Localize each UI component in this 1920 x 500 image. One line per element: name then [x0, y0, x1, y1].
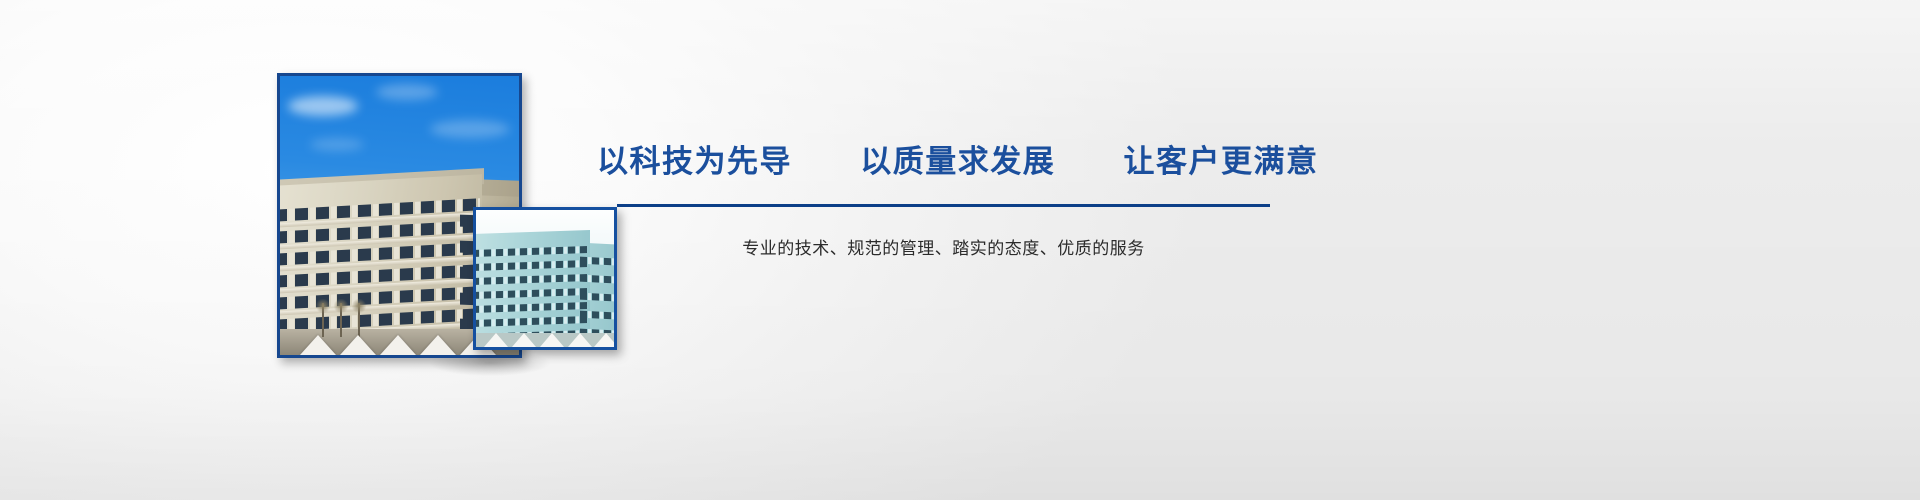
tent-canopy [594, 333, 617, 347]
cloud-shape [310, 138, 364, 151]
tent-canopy [540, 333, 564, 347]
headline-segment-1: 以科技为先导 [597, 140, 792, 184]
tent-canopy [300, 335, 336, 355]
cloud-shape [430, 120, 510, 138]
tent-canopy [568, 333, 592, 347]
tree-shape [322, 303, 324, 337]
tent-canopy [420, 335, 456, 355]
tree-shape [340, 303, 342, 337]
tent-canopy [512, 333, 536, 347]
tent-canopy [340, 335, 376, 355]
hero-banner: 以科技为先导 以质量求发展 让客户更满意 专业的技术、规范的管理、踏实的态度、优… [0, 0, 1920, 500]
headline-segment-2: 以质量求发展 [860, 140, 1055, 184]
tent-canopy [380, 335, 416, 355]
headline-segment-3: 让客户更满意 [1124, 140, 1319, 184]
headline-slogan: 以科技为先导 以质量求发展 让客户更满意 [597, 140, 1319, 184]
cloud-shape [288, 96, 358, 116]
tree-shape [358, 303, 360, 337]
subtitle-text: 专业的技术、规范的管理、踏实的态度、优质的服务 [617, 234, 1270, 259]
cloud-shape [376, 84, 438, 100]
divider-rule [617, 204, 1270, 207]
tent-canopy [484, 333, 508, 347]
glass-building-photo [473, 207, 617, 350]
